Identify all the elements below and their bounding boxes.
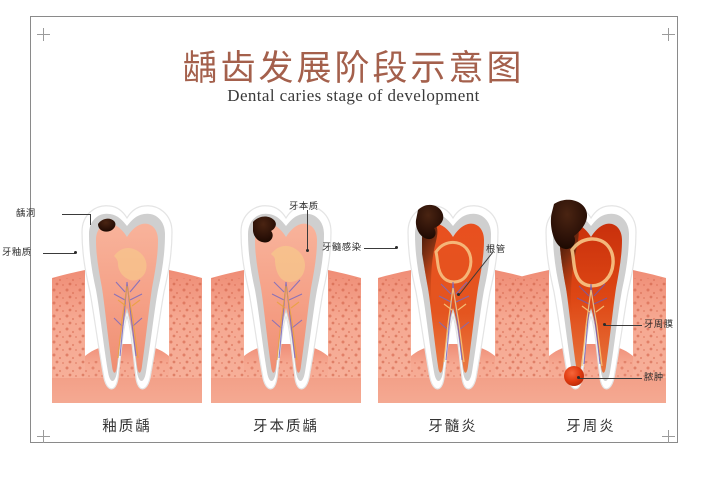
- caption-dentin-caries: 牙本质龋: [211, 415, 361, 436]
- leader-cavity-h: [62, 214, 90, 215]
- label-abscess: 脓肿: [644, 369, 664, 383]
- poster-title-cn: 龋齿发展阶段示意图: [0, 40, 707, 91]
- leader-dentin: [307, 210, 308, 250]
- caption-periodontitis: 牙周炎: [516, 415, 666, 436]
- tooth-diagram-pulpitis: [378, 196, 528, 414]
- tooth-diagram-enamel-caries: [52, 196, 202, 414]
- stage-pulpitis: 牙髓感染 根管: [378, 196, 528, 414]
- leader-root-canal: [448, 248, 498, 300]
- tooth-diagram-dentin-caries: [211, 196, 361, 414]
- label-pulp-infection: 牙髓感染: [322, 239, 362, 253]
- leader-enamel: [43, 253, 75, 254]
- caption-pulpitis: 牙髓炎: [378, 415, 528, 436]
- stage-periodontitis: 牙周膜 脓肿: [516, 196, 666, 414]
- leader-abscess: [578, 378, 642, 379]
- leader-cavity-v: [90, 214, 91, 225]
- leader-pulp-infection: [364, 248, 396, 249]
- label-enamel: 牙釉质: [2, 244, 32, 258]
- stage-dentin-caries: 牙本质: [211, 196, 361, 414]
- label-dentin: 牙本质: [289, 198, 319, 212]
- poster-title-en: Dental caries stage of development: [0, 86, 707, 106]
- label-cavity: 龋洞: [16, 205, 36, 219]
- leader-periodontal-ligament: [604, 325, 642, 326]
- stage-enamel-caries: 龋洞 牙釉质: [52, 196, 202, 414]
- label-periodontal-ligament: 牙周膜: [644, 316, 674, 330]
- caption-enamel-caries: 釉质龋: [52, 415, 202, 436]
- abscess-lesion: [564, 366, 584, 386]
- poster-root: 龋齿发展阶段示意图 Dental caries stage of develop…: [0, 0, 707, 485]
